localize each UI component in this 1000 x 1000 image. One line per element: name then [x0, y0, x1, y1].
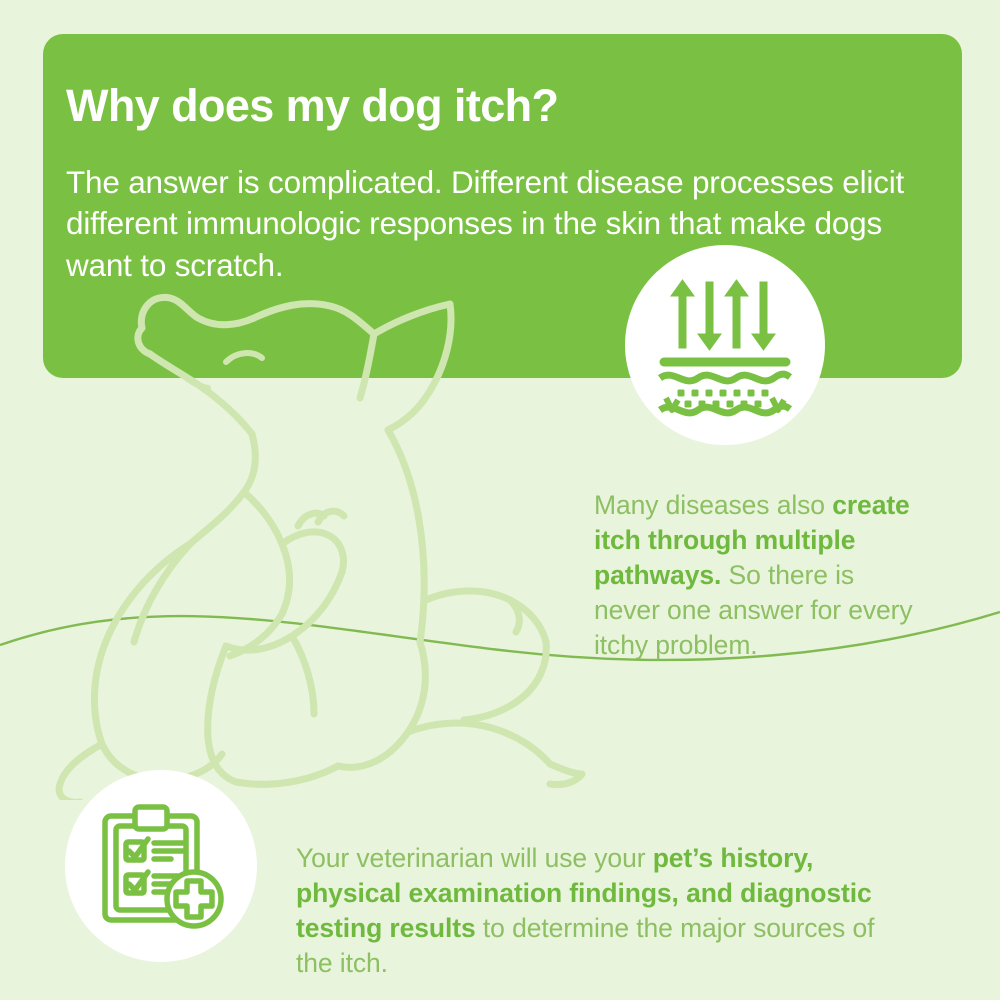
clipboard-icon-badge	[65, 770, 257, 962]
middle-text-part-1: Many diseases also	[594, 490, 832, 520]
page-title: Why does my dog itch?	[66, 82, 906, 129]
header-description: The answer is complicated. Different dis…	[66, 162, 928, 287]
middle-section-text: Many diseases also create itch through m…	[594, 488, 924, 664]
medical-cross-badge	[167, 872, 221, 926]
clipboard-checklist-medical-icon	[91, 796, 231, 936]
bottom-section-text: Your veterinarian will use your pet’s hi…	[296, 841, 916, 982]
bottom-text-part-1: Your veterinarian will use your	[296, 843, 653, 873]
skin-barrier-arrows-icon	[650, 270, 800, 420]
scratching-dog-line-art	[30, 270, 630, 800]
infographic-canvas: Why does my dog itch? The answer is comp…	[0, 0, 1000, 1000]
skin-barrier-icon-badge	[625, 245, 825, 445]
